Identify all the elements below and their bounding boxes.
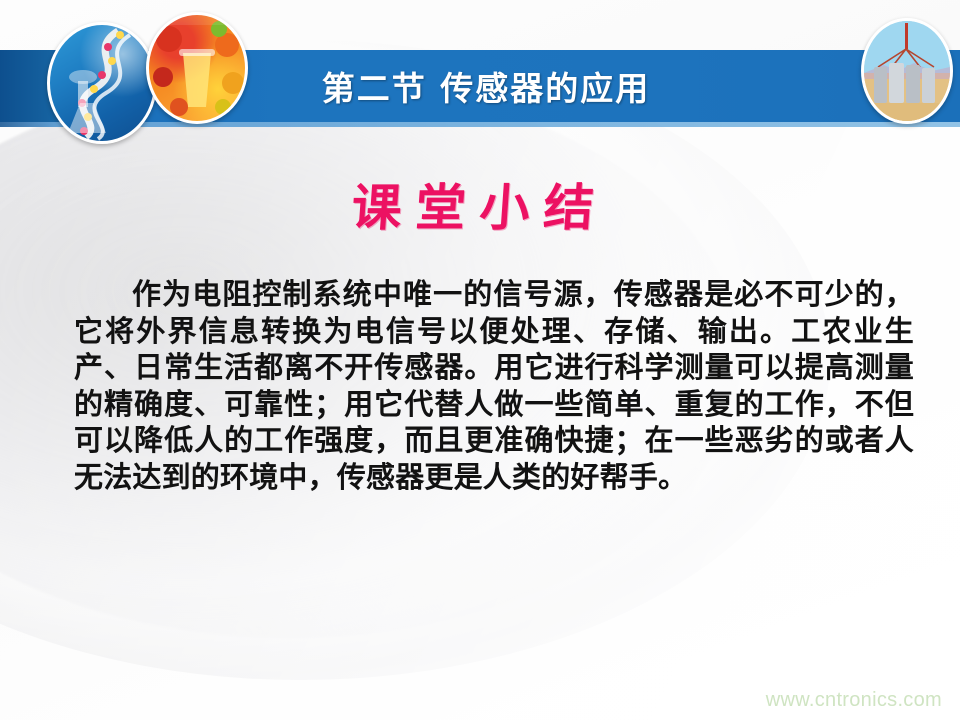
grain-silo-icon — [861, 18, 953, 124]
summary-heading: 课堂小结 — [0, 168, 960, 240]
site-watermark: www.cntronics.com — [766, 689, 942, 712]
slide-root: 第二节 传感器的应用 — [0, 0, 960, 720]
dna-strand-icon — [50, 25, 154, 141]
food-fruit-icon — [146, 12, 248, 124]
silo-art-icon — [864, 21, 950, 121]
summary-paragraph: 作为电阻控制系统中唯一的信号源，传感器是必不可少的，它将外界信息转换为电信号以便… — [74, 276, 914, 495]
fruit-juice-icon — [149, 15, 245, 121]
dna-lab-icon — [47, 22, 157, 144]
